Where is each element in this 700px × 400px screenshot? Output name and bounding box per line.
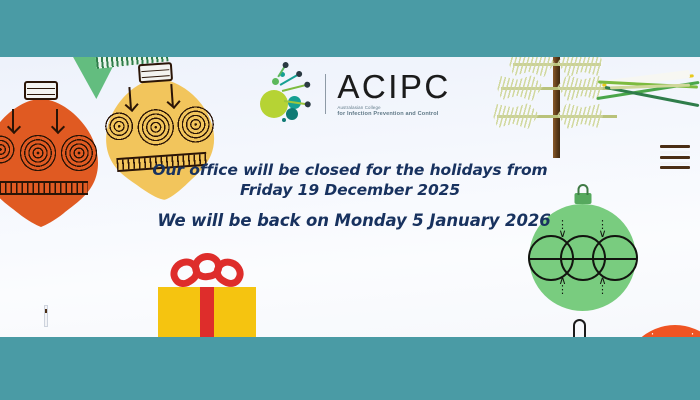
logo-pin-icon [282,84,308,92]
candle [44,305,48,327]
tree-leaf [493,103,539,129]
logo-dot-teal-dark [286,108,298,120]
arrow-down-icon [56,109,58,131]
spiral-cluster [102,103,217,151]
logo-dot-green [272,78,279,85]
ornament-cap [138,62,173,83]
tree-leaf [557,57,603,77]
logo-divider [325,74,326,114]
logo-dot-lime-large [260,90,288,118]
tree-trunk [553,57,560,158]
holiday-closure-banner-image: ACIPC Australasian College for Infection… [0,0,700,400]
logo-text-block: ACIPC Australasian College for Infection… [335,70,450,118]
spiral-icon [102,109,136,144]
tree-leaf [497,75,543,101]
banner-canvas: ACIPC Australasian College for Infection… [0,57,700,337]
closure-message: Our office will be closed for the holida… [0,161,700,201]
closure-message-line-2: Friday 19 December 2025 [0,181,700,201]
arrow-down-icon [12,109,14,131]
lens-row [522,235,643,281]
chevron-marks: ∧⋮ [597,276,608,294]
chevron-marks: ⋮∨ [647,333,658,337]
tree-leaf [509,57,555,77]
spiral-icon [135,106,177,149]
gift-box [158,249,256,337]
closure-message-line-1: Our office will be closed for the holida… [0,161,700,181]
logo-wordmark: ACIPC [337,70,450,103]
gift-ribbon [200,287,214,337]
return-message: We will be back on Monday 5 January 2026 [0,211,700,230]
logo-dot-small [282,118,286,122]
candy-cane-hook [573,319,586,337]
spiral-icon [175,103,217,146]
round-ornament-orange: ⋮∨ ⋮∨ [623,325,700,337]
logo-tagline-line-2: for Infection Prevention and Control [337,111,450,118]
acipc-logo-mark-icon [258,66,316,122]
acipc-logo: ACIPC Australasian College for Infection… [258,65,451,123]
logo-tagline-line-1: Australasian College [337,105,450,110]
chevron-marks: ⋮∨ [687,333,698,337]
ornament-cap [24,81,58,100]
chevron-marks: ∧⋮ [557,276,568,294]
tree-leaf [557,103,603,129]
crossing-sticks [600,63,700,123]
